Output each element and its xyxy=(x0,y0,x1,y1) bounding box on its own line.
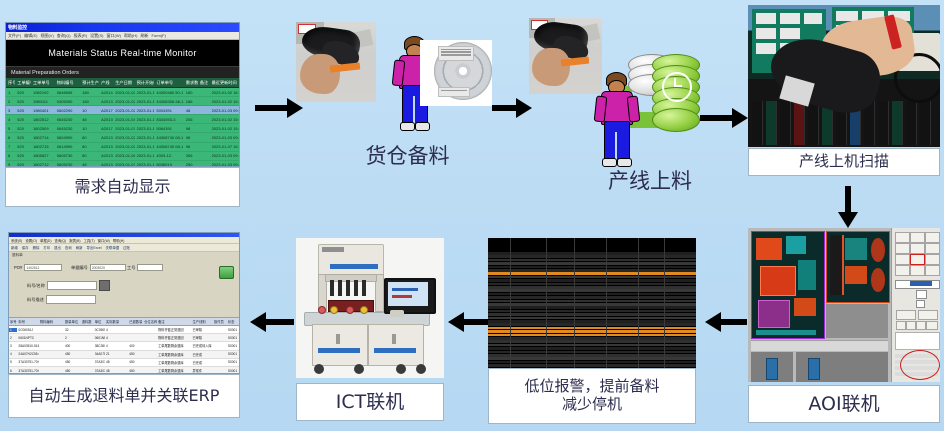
erp-cell: 4 xyxy=(105,336,128,340)
erp-table-row[interactable]: 424A07H2C55-0C1945034A0754321450工单尾数剩余退库… xyxy=(9,351,239,359)
mrp-table-row[interactable]: 35201980401060229010A20172023-01-022023-… xyxy=(6,106,239,115)
mrp-cell: 2023-01-03 09:15:06 xyxy=(210,153,239,158)
mrp-cell: 2023-01-17 09:00 xyxy=(135,126,155,131)
erp-cell: 21 xyxy=(105,352,128,356)
caption-ict-online: ICT联机 xyxy=(296,383,444,421)
mrp-cell: 5004391 xyxy=(154,108,183,113)
mrp-cell: 7 xyxy=(6,144,15,149)
mrp-cell: 180 xyxy=(80,90,99,95)
erp-column-header[interactable]: 已退数量 xyxy=(128,319,143,324)
mrp-cell: 10 xyxy=(80,108,99,113)
mrp-cell: 1802512 xyxy=(31,117,55,122)
mrp-cell: 80 xyxy=(80,135,99,140)
erp-cell: 物料齐套正常退回 xyxy=(157,327,191,332)
erp-cell: S0001 xyxy=(227,369,239,373)
erp-toolbar-button-6[interactable]: 刷新 xyxy=(76,245,83,250)
mrp-cell: 520 xyxy=(15,90,31,95)
terminal-column-divider xyxy=(574,238,575,368)
mrp-cell: 2023-01-17 00:00 xyxy=(135,135,155,140)
caption-line-scan: 产线上机扫描 xyxy=(748,148,940,176)
erp-column-header[interactable]: 操作员 xyxy=(213,319,227,324)
mrp-cell: 520 xyxy=(15,108,31,113)
aoi-pcb-image-left xyxy=(751,231,825,339)
erp-field-label-4: 料号描述 xyxy=(27,297,44,303)
erp-cell: 4 xyxy=(9,352,17,356)
mrp-menu-item-9[interactable]: Form(F) xyxy=(152,33,166,38)
mrp-menu-item-1[interactable]: 编辑(E) xyxy=(24,33,37,39)
mrp-menubar[interactable]: 文件(F)编辑(E)视图(V)查询(Q)报表(R)设置(S)窗口(W)帮助(H)… xyxy=(6,32,239,40)
mrp-column-header[interactable]: 备注 xyxy=(198,80,210,86)
erp-cell: 450 xyxy=(128,369,143,373)
terminal-column-divider xyxy=(606,238,607,368)
mrp-cell: 1802715 xyxy=(31,144,55,149)
workflow-diagram: 物料监控 文件(F)编辑(E)视图(V)查询(Q)报表(R)设置(S)窗口(W)… xyxy=(0,0,944,431)
mrp-cell: 98 xyxy=(184,135,198,140)
erp-toolbar-button-3[interactable]: 打印 xyxy=(43,245,50,250)
mrp-cell: 520 xyxy=(15,117,31,122)
mrp-cell: 186 xyxy=(184,99,198,104)
mrp-cell: 180 xyxy=(184,90,198,95)
erp-column-header[interactable]: 料号 xyxy=(17,319,38,324)
erp-cell: 物料齐套正常退回 xyxy=(157,335,191,340)
mrp-cell: 0604990 xyxy=(55,135,80,140)
mrp-cell: 2023-01-04 xyxy=(113,117,134,122)
mrp-cell: 80 xyxy=(80,153,99,158)
erp-cell: 48 xyxy=(105,360,128,364)
mrp-column-header[interactable]: 需求数 xyxy=(184,80,198,86)
erp-table-body: 10C06051J320C05050J4物料齐套正常退回已审核S00012060… xyxy=(9,326,239,374)
mrp-cell: A2017 xyxy=(99,108,113,113)
erp-cell: 0601NPTC xyxy=(94,336,105,340)
erp-field-input-0[interactable]: 1402611 xyxy=(24,264,62,271)
terminal-column-divider xyxy=(546,238,547,368)
mrp-cell: 2023-01-02 xyxy=(113,90,134,95)
mrp-table-header: 序号工单编号工单单号物料编号预计生产数产线生产日期预计开始时间订单单号需求数备注… xyxy=(6,78,239,88)
caption-erp-return-label: 自动生成退料单并关联ERP xyxy=(29,387,220,406)
erp-field-label-2: 工号 xyxy=(127,265,135,271)
mrp-column-header[interactable]: 序号 xyxy=(6,80,15,86)
erp-field-label-1: 单据编号 xyxy=(71,265,88,271)
erp-field-input-3[interactable] xyxy=(47,281,97,290)
erp-cell: 4 xyxy=(105,328,128,332)
mrp-menu-item-7[interactable]: 帮助(H) xyxy=(124,33,138,39)
arrow-aoi-to-alert xyxy=(705,312,747,332)
erp-cell: 32 xyxy=(64,328,81,332)
erp-menu-item-5[interactable]: 工具(T) xyxy=(84,238,95,243)
mrp-cell: 0605730 xyxy=(55,153,80,158)
mrp-cell: A2013 xyxy=(99,153,113,158)
mrp-cell: 48 xyxy=(184,108,198,113)
mrp-subbanner: Material Preparation Orders xyxy=(6,66,239,78)
erp-field-label-0: PO# xyxy=(14,265,22,270)
mrp-menu-item-4[interactable]: 报表(R) xyxy=(74,33,88,39)
erp-cell: 已审核 xyxy=(192,327,213,332)
erp-menubar[interactable]: 系统(S)设置(O)单据(D)查询(Q)报表(B)工具(T)窗口(W)帮助(H) xyxy=(9,237,239,244)
erp-toolbar-button-5[interactable]: 查询 xyxy=(65,245,72,250)
erp-column-header[interactable]: 数量单位 xyxy=(64,319,81,324)
mrp-menu-item-6[interactable]: 窗口(W) xyxy=(106,33,120,39)
mrp-cell: 10 xyxy=(80,126,99,131)
mrp-menu-item-5[interactable]: 设置(S) xyxy=(90,33,103,39)
mrp-cell: 1980401 xyxy=(31,108,55,113)
mrp-cell: 1980111 xyxy=(31,99,55,104)
erp-cell: S0001 xyxy=(227,336,239,340)
erp-table-row[interactable]: 637A30751-70H4A845037A3075148450工单尾数剩余退库… xyxy=(9,367,239,374)
erp-cell: 450 xyxy=(64,369,81,373)
mrp-table-row[interactable]: 252019801110405390180A20132023-01-022023… xyxy=(6,97,239,106)
arrow-scan-to-aoi xyxy=(838,186,858,228)
erp-column-header[interactable]: 生产线别 xyxy=(192,319,213,324)
erp-cell: 异常件 xyxy=(192,368,213,373)
caption-warehouse-prep: 货仓备料 xyxy=(330,138,485,174)
erp-cell: S0001 xyxy=(227,344,239,348)
optical-disc-photo xyxy=(420,40,492,106)
mrp-menu-item-8[interactable]: 刷新 xyxy=(141,33,149,39)
erp-cell: 工单尾数剩余退库 xyxy=(157,343,191,348)
erp-cell: 已审核 xyxy=(192,335,213,340)
caption-low-stock-line2: 减少停机 xyxy=(562,396,622,414)
mrp-table-row[interactable]: 75201802715061499080A20132023-01-022023-… xyxy=(6,143,239,152)
erp-menu-item-0[interactable]: 系统(S) xyxy=(11,238,22,243)
mrp-cell: 520 xyxy=(15,135,31,140)
mrp-menu-item-3[interactable]: 查询(Q) xyxy=(57,33,71,39)
erp-tab-label[interactable]: 退料单 xyxy=(12,253,23,258)
arrow-feeding-to-scan xyxy=(700,108,748,128)
mrp-cell: 44308740 08-1 xyxy=(154,135,183,140)
erp-field-label-3: 料号/名称 xyxy=(27,283,45,289)
mrp-cell: 44308740 08-1 xyxy=(154,144,183,149)
mrp-cell: 2023-01-03 09:15:06 xyxy=(210,108,239,113)
erp-form-body: 退料单 PO# 1402611 单据编号 2003020 工号 料号/名称 料号… xyxy=(9,252,239,317)
erp-cell: 37A30751 xyxy=(94,360,105,364)
mrp-cell: 2023-01-02 xyxy=(113,144,134,149)
caption-demand-display: 需求自动显示 xyxy=(5,167,240,207)
erp-column-header[interactable]: 物料编码 xyxy=(39,319,64,324)
erp-cell: 450 xyxy=(128,360,143,364)
mrp-cell: 2023-01-02 xyxy=(113,99,134,104)
caption-low-stock-alert: 低位报警，提前备料 减少停机 xyxy=(488,368,696,424)
erp-menu-item-3[interactable]: 查询(Q) xyxy=(55,238,67,243)
erp-menu-item-2[interactable]: 单据(D) xyxy=(40,238,52,243)
mrp-cell: A2014 xyxy=(99,90,113,95)
mrp-cell: 2023-01-06 xyxy=(113,153,134,158)
mrp-cell: A2017 xyxy=(99,126,113,131)
erp-column-header[interactable]: 单位 xyxy=(94,319,105,324)
terminal-column-divider xyxy=(510,238,511,368)
erp-cell: 0C06051J xyxy=(17,328,38,332)
mrp-cell: A2013 xyxy=(99,117,113,122)
erp-cell: 450 xyxy=(128,352,143,356)
mrp-column-header[interactable]: 预计开始时间 xyxy=(135,80,155,86)
erp-cell: 工单尾数剩余退库 xyxy=(157,360,191,365)
ict-machine-photo xyxy=(296,238,444,378)
mrp-cell: 6 xyxy=(6,135,15,140)
erp-cell: S0001 xyxy=(227,328,239,332)
erp-menu-item-6[interactable]: 窗口(W) xyxy=(98,238,110,243)
erp-cell: 37A30751-70H4A8 xyxy=(17,360,38,364)
mrp-column-header[interactable]: 产线 xyxy=(99,80,113,86)
mrp-monitor-screenshot: 物料监控 文件(F)编辑(E)视图(V)查询(Q)报表(R)设置(S)窗口(W)… xyxy=(5,22,240,167)
erp-toolbar-button-2[interactable]: 删除 xyxy=(33,245,40,250)
mrp-cell: 1802509 xyxy=(31,126,55,131)
mrp-cell: 8 xyxy=(6,153,15,158)
erp-cell: 0601NPTC xyxy=(17,336,38,340)
mrp-cell: 48 xyxy=(80,117,99,122)
erp-return-form-screenshot: 系统(S)设置(O)单据(D)查询(Q)报表(B)工具(T)窗口(W)帮助(H)… xyxy=(8,232,240,374)
terminal-column-divider xyxy=(638,238,639,368)
erp-toolbar-button-8[interactable]: 关联单据 xyxy=(106,245,120,250)
erp-cell: 3 xyxy=(9,344,17,348)
erp-field-input-4[interactable] xyxy=(46,295,96,304)
erp-table-row[interactable]: 328A03510-51640T40038C350424400工单尾数剩余退库已… xyxy=(9,342,239,350)
operator-person-icon-2 xyxy=(594,72,638,170)
mrp-cell: 2023-01-18 15:00 xyxy=(135,117,155,122)
caption-line-feeding: 产线上料 xyxy=(570,163,730,199)
mrp-table-row[interactable]: 45201802512064523048A20132023-01-042023-… xyxy=(6,115,239,124)
mrp-cell: 2023-01-02 16:16:06 xyxy=(210,90,239,95)
erp-cell: 38C35042 xyxy=(94,344,105,348)
erp-column-header[interactable]: 备注 xyxy=(157,319,191,324)
mrp-table-body: 152019821920646696180A20142023-01-022023… xyxy=(6,88,239,167)
mrp-window-title: 物料监控 xyxy=(6,24,27,31)
mrp-table-row[interactable]: 55201802509064523010A20172023-01-072023-… xyxy=(6,124,239,133)
erp-toolbar-button-9[interactable]: 过账 xyxy=(123,245,130,250)
mrp-cell: 4003-1C xyxy=(154,153,183,158)
mrp-cell: 44300480 50-1 xyxy=(154,90,183,95)
aoi-pcb-image-right xyxy=(826,231,890,303)
mrp-cell: 1 xyxy=(6,90,15,95)
aoi-machine-screenshot xyxy=(748,228,940,382)
mrp-cell: 306 xyxy=(184,153,198,158)
erp-cell: 450 xyxy=(64,360,81,364)
erp-cell: S0001 xyxy=(227,352,239,356)
erp-toolbar-button-4[interactable]: 退出 xyxy=(54,245,61,250)
arrow-warehouse-to-feeding xyxy=(492,98,532,118)
caption-line-scan-label: 产线上机扫描 xyxy=(799,153,889,171)
mrp-cell: A2013 xyxy=(99,99,113,104)
arrow-alert-to-ict xyxy=(448,312,488,332)
mrp-cell: 2023-01-07 16:18:09 xyxy=(210,144,239,149)
erp-field-input-2[interactable] xyxy=(137,264,163,271)
mrp-cell: 520 xyxy=(15,144,31,149)
erp-column-header[interactable]: 实际数量 xyxy=(105,319,128,324)
erp-cell: 1 xyxy=(9,328,17,332)
erp-cell: 48 xyxy=(105,369,128,373)
mrp-banner: Materials Status Real-time Monitor xyxy=(6,40,239,66)
erp-field-input-1[interactable]: 2003020 xyxy=(90,264,126,271)
erp-toolbar-button-1[interactable]: 保存 xyxy=(22,245,29,250)
mrp-cell: 180 xyxy=(80,99,99,104)
mrp-cell: 2023-01-03 09:45:40 xyxy=(210,135,239,140)
erp-menu-item-7[interactable]: 帮助(H) xyxy=(113,238,125,243)
mrp-cell: 5 xyxy=(6,126,15,131)
mrp-cell: 520 xyxy=(15,99,31,104)
disc-label xyxy=(438,46,474,61)
erp-table-header: 序号料号物料编码数量单位退料数单位实际数量已退数量仓位名称备注生产线别操作员状态 xyxy=(9,317,239,326)
mrp-window-titlebar: 物料监控 xyxy=(6,23,239,32)
erp-cell: 5 xyxy=(9,360,17,364)
erp-toolbar-button-0[interactable]: 新增 xyxy=(11,245,18,250)
clock-icon xyxy=(662,72,692,102)
caption-aoi-online-label: AOI联机 xyxy=(808,393,879,415)
erp-cell: 24A07H2C55-0C19 xyxy=(17,352,38,356)
arrow-ict-to-erp xyxy=(250,312,294,332)
mrp-table-row[interactable]: 65201802714060499080A20132023-01-022023-… xyxy=(6,133,239,142)
erp-cell: 已完成待入库 xyxy=(192,343,213,348)
barcode-scanner-photo-1 xyxy=(296,22,376,102)
mrp-cell: 520 xyxy=(15,153,31,158)
mrp-cell: 0646696 xyxy=(55,90,80,95)
erp-table-row[interactable]: 10C06051J320C05050J4物料齐套正常退回已审核S0001 xyxy=(9,326,239,334)
mrp-cell: 1802714 xyxy=(31,135,55,140)
mrp-cell: 2023-01-02 15:28:47 xyxy=(210,117,239,122)
mrp-column-header[interactable]: 最近更新时间 xyxy=(210,80,239,86)
erp-cell: 已完成 xyxy=(192,360,213,365)
erp-cell: 工单尾数剩余退库 xyxy=(157,368,191,373)
erp-cell: 2 xyxy=(9,336,17,340)
erp-toolbar[interactable]: 新增保存删除打印退出查询刷新导出Excel关联单据过账 xyxy=(9,244,239,252)
erp-column-header[interactable]: 退料数 xyxy=(81,319,94,324)
pcb-rack-scan-photo xyxy=(748,5,940,147)
caption-erp-return: 自动生成退料单并关联ERP xyxy=(8,374,240,418)
erp-column-header[interactable]: 序号 xyxy=(9,319,17,324)
mrp-cell: 2 xyxy=(6,99,15,104)
mrp-cell: 0645230 xyxy=(55,126,80,131)
mrp-column-header[interactable]: 工单单号 xyxy=(31,80,55,86)
mrp-cell: 2023-01-07 xyxy=(113,126,134,131)
aoi-highlight-circle xyxy=(900,350,940,380)
erp-toolbar-button-7[interactable]: 导出Excel xyxy=(86,245,101,250)
mrp-cell: 0645230 xyxy=(55,117,80,122)
mrp-cell: 2023-01-19 00:00 xyxy=(135,153,155,158)
mrp-column-header[interactable]: 订单单号 xyxy=(154,80,183,86)
terminal-column-divider xyxy=(664,238,665,368)
erp-cell: 已完成 xyxy=(192,352,213,357)
mrp-menu-item-0[interactable]: 文件(F) xyxy=(8,33,21,39)
mrp-cell: 2023-01-02 xyxy=(113,108,134,113)
low-stock-terminal-screenshot xyxy=(488,238,696,368)
mrp-menu-item-2[interactable]: 视图(V) xyxy=(40,33,53,39)
erp-cell: 6 xyxy=(9,369,17,373)
mrp-column-header[interactable]: 工单编号 xyxy=(15,80,31,86)
mrp-cell: 0614990 xyxy=(55,144,80,149)
erp-table-row[interactable]: 20601NPTC20601NPTC4物料齐套正常退回已审核S0001 xyxy=(9,334,239,342)
erp-menu-item-4[interactable]: 报表(B) xyxy=(69,238,80,243)
mrp-cell: 8334053-3 xyxy=(154,117,183,122)
ict-monitor xyxy=(384,278,436,314)
caption-line-feeding-label: 产线上料 xyxy=(608,169,692,194)
caption-aoi-online: AOI联机 xyxy=(748,385,940,423)
mrp-cell: 2023-01-17 08:00 xyxy=(135,144,155,149)
erp-cell: 450 xyxy=(64,352,81,356)
erp-column-header[interactable]: 状态 xyxy=(227,319,239,324)
mrp-cell: 2023-01-17 08:00 xyxy=(135,108,155,113)
erp-cell: 37A30751 xyxy=(94,369,105,373)
mrp-cell: A2013 xyxy=(99,144,113,149)
mrp-cell: 2023-01-02 xyxy=(113,135,134,140)
mrp-cell: 0405390 xyxy=(55,99,80,104)
erp-cell: 34A07543 xyxy=(94,352,105,356)
caption-low-stock-line1: 低位报警，提前备料 xyxy=(524,378,659,396)
erp-menu-item-1[interactable]: 设置(O) xyxy=(25,238,37,243)
mrp-cell: 0602290 xyxy=(55,108,80,113)
mrp-cell: 98 xyxy=(184,144,198,149)
mrp-table-row[interactable]: 152019821920646696180A20142023-01-022023… xyxy=(6,88,239,97)
mrp-cell: 80 xyxy=(80,144,99,149)
mrp-cell: 98 xyxy=(184,126,198,131)
erp-cell: 28A03510-51640T xyxy=(17,344,38,348)
mrp-cell: A2013 xyxy=(99,135,113,140)
mrp-cell: 1805827 xyxy=(31,153,55,158)
mrp-table-row[interactable]: 85201805827060573080A20132023-01-062023-… xyxy=(6,152,239,161)
mrp-cell: 520 xyxy=(15,126,31,131)
mrp-cell: 44308306-56-1 xyxy=(154,99,183,104)
erp-cell: 2 xyxy=(64,336,81,340)
mrp-cell: 4 xyxy=(6,117,15,122)
mrp-cell: 2023-01-02 16:48:16 xyxy=(210,99,239,104)
mrp-cell: 1982192 xyxy=(31,90,55,95)
mrp-column-header[interactable]: 生产日期 xyxy=(113,80,134,86)
erp-cell: S0001 xyxy=(227,360,239,364)
erp-table-row[interactable]: 537A30751-70H4A845037A3075148450工单尾数剩余退库… xyxy=(9,359,239,367)
erp-submit-button[interactable] xyxy=(219,266,234,279)
mrp-cell: 2023-01-17 13:00 xyxy=(135,90,155,95)
caption-demand-display-label: 需求自动显示 xyxy=(74,178,170,197)
caption-ict-online-label: ICT联机 xyxy=(336,391,404,413)
erp-cell: 0C05050J xyxy=(94,328,105,332)
mrp-column-header[interactable]: 预计生产数 xyxy=(80,80,99,86)
barcode-scanner-photo-2 xyxy=(529,18,602,94)
erp-lookup-button[interactable] xyxy=(99,280,110,291)
aoi-control-panel[interactable] xyxy=(891,228,940,382)
mrp-cell: 3 xyxy=(6,108,15,113)
erp-column-header[interactable]: 仓位名称 xyxy=(143,319,157,324)
mrp-cell: 5064391 xyxy=(154,126,183,131)
mrp-cell: 2023-01-17 16:00 xyxy=(135,99,155,104)
erp-cell: 400 xyxy=(128,344,143,348)
caption-warehouse-prep-label: 货仓备料 xyxy=(366,144,450,169)
erp-cell: 37A30751-70H4A8 xyxy=(17,369,38,373)
mrp-column-header[interactable]: 物料编号 xyxy=(55,80,80,86)
erp-cell: 工单尾数剩余退库 xyxy=(157,352,191,357)
mrp-cell: 2023-01-02 15:28:48 xyxy=(210,126,239,131)
mrp-cell: 206 xyxy=(184,117,198,122)
erp-cell: 400 xyxy=(64,344,81,348)
erp-cell: 4 xyxy=(105,344,128,348)
